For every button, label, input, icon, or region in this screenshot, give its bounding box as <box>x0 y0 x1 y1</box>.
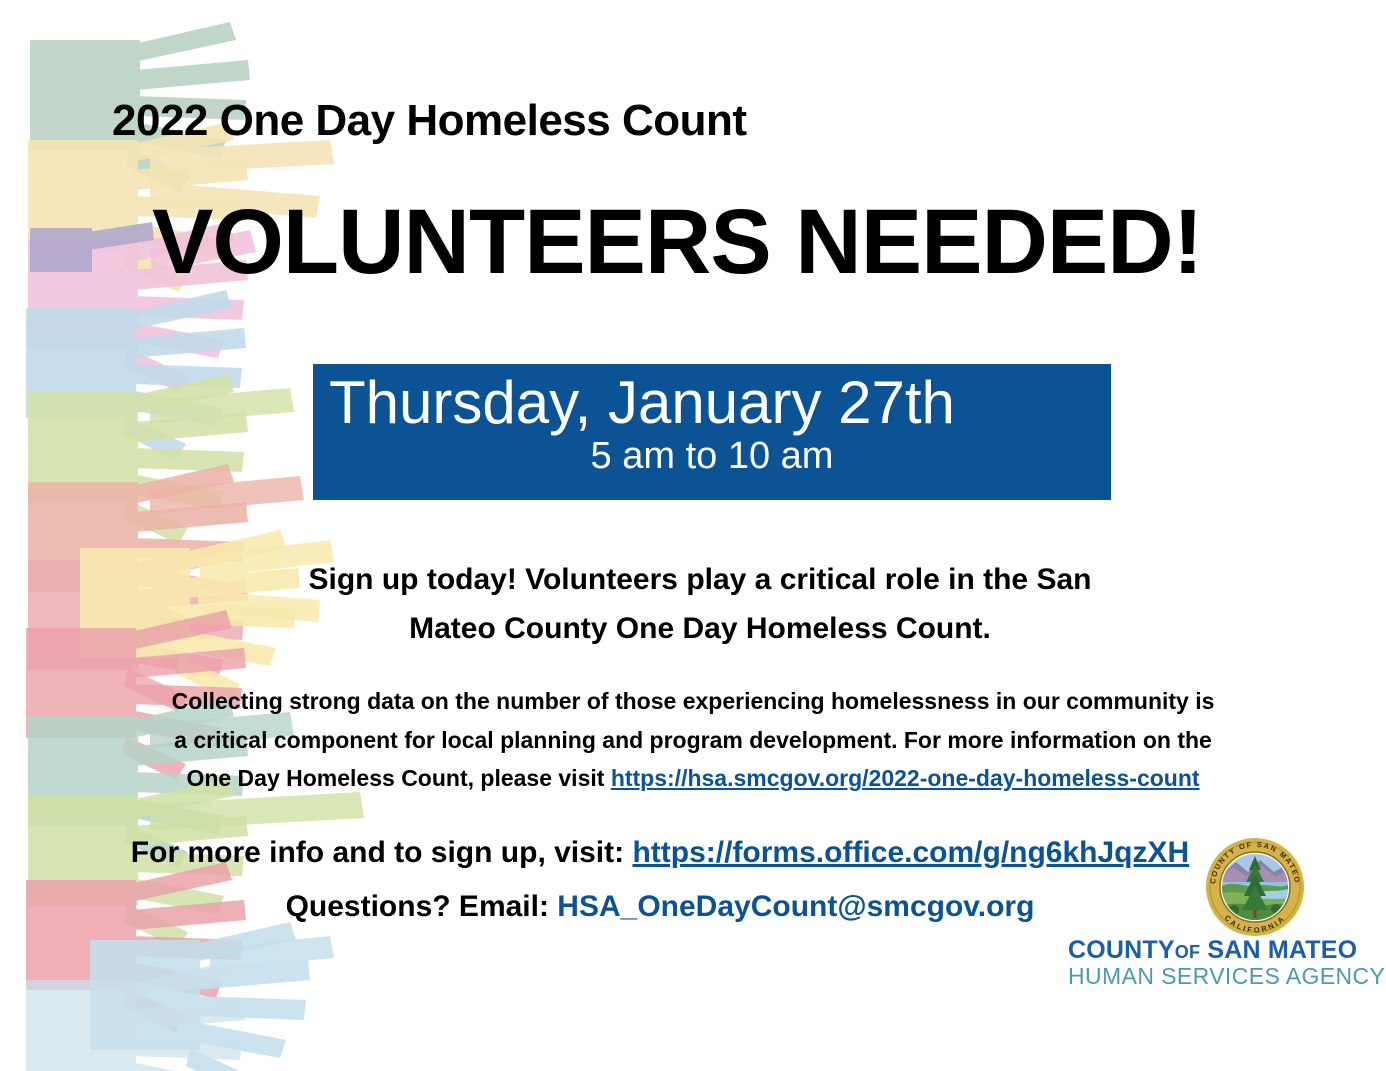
wordmark-agency: HUMAN SERVICES AGENCY <box>1068 964 1324 990</box>
flyer-kicker: 2022 One Day Homeless Count <box>112 96 747 146</box>
flyer-headline: VOLUNTEERS NEEDED! <box>152 196 1202 288</box>
questions-prefix: Questions? Email: <box>286 890 558 923</box>
body-paragraph: Collecting strong data on the number of … <box>110 682 1276 798</box>
signup-url-link[interactable]: https://forms.office.com/g/ng6khJqzXH <box>632 836 1189 869</box>
county-seal-icon: COUNTY OF SAN MATEO CALIFORNIA <box>1204 836 1306 938</box>
body-line-3: One Day Homeless Count, please visit htt… <box>110 759 1276 798</box>
body-line-1: Collecting strong data on the number of … <box>110 682 1276 721</box>
signup-line: For more info and to sign up, visit: htt… <box>110 838 1210 868</box>
body-line-3-prefix: One Day Homeless Count, please visit <box>186 765 610 791</box>
wordmark-line-county: COUNTYOF SAN MATEO <box>1068 936 1324 964</box>
wordmark-san-mateo: SAN MATEO <box>1207 936 1357 964</box>
date-banner: Thursday, January 27th 5 am to 10 am <box>313 364 1111 500</box>
wordmark-county: COUNTY <box>1068 936 1175 964</box>
signup-prefix: For more info and to sign up, visit: <box>131 836 633 869</box>
lead-line-2: Mateo County One Day Homeless Count. <box>240 605 1160 654</box>
questions-line: Questions? Email: HSA_OneDayCount@smcgov… <box>110 892 1210 922</box>
county-wordmark: COUNTYOF SAN MATEO HUMAN SERVICES AGENCY <box>1068 936 1324 990</box>
lead-paragraph: Sign up today! Volunteers play a critica… <box>240 556 1160 653</box>
flyer-page: 2022 One Day Homeless Count VOLUNTEERS N… <box>0 0 1386 1071</box>
contact-email-link[interactable]: HSA_OneDayCount@smcgov.org <box>557 890 1034 923</box>
body-line-2: a critical component for local planning … <box>110 721 1276 760</box>
lead-line-1: Sign up today! Volunteers play a critica… <box>240 556 1160 605</box>
event-date: Thursday, January 27th <box>313 368 1111 437</box>
info-url-link[interactable]: https://hsa.smcgov.org/2022-one-day-home… <box>611 765 1200 791</box>
wordmark-of: OF <box>1175 942 1200 962</box>
event-time: 5 am to 10 am <box>313 437 1111 477</box>
